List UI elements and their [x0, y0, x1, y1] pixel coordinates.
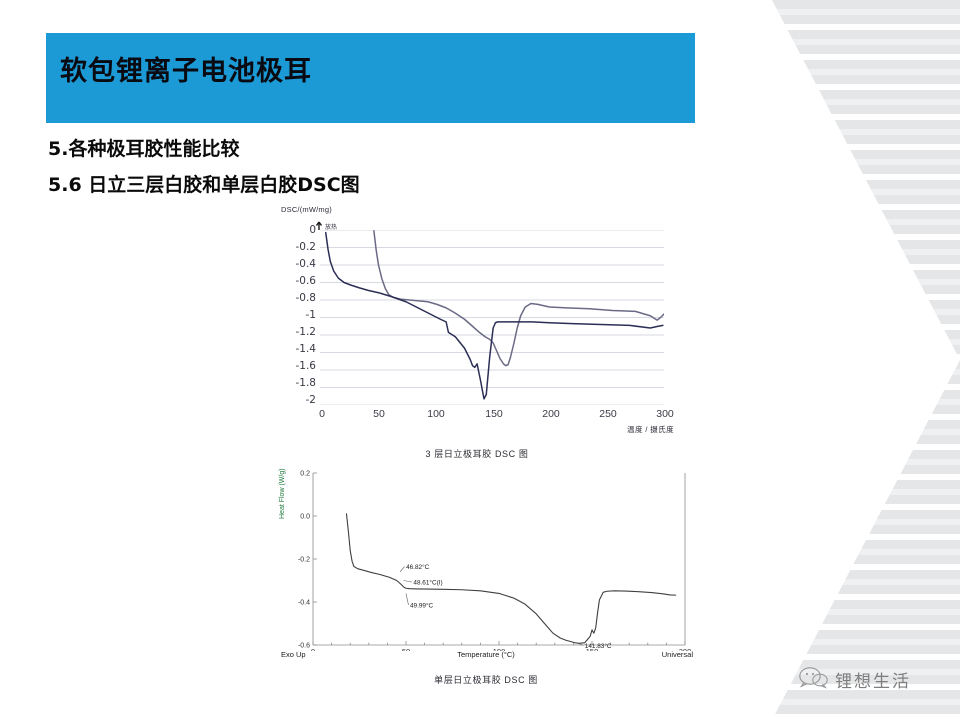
svg-text:0.2: 0.2 [300, 470, 310, 477]
chart1-ytick: -1.6 [296, 361, 317, 371]
chart1-ytick: -0.2 [296, 242, 317, 252]
chart1-x-ticks: 0 50 100 150 200 250 300 [304, 408, 676, 424]
svg-text:46.82°C: 46.82°C [406, 563, 430, 571]
svg-text:-0.4: -0.4 [298, 599, 310, 606]
svg-text:50: 50 [402, 647, 410, 651]
chart-three-layer-dsc: DSC/(mW/mg) 放热 0 -0.2 -0.4 -0.6 -0.8 -1 … [276, 203, 678, 443]
svg-text:141.83°C: 141.83°C [585, 642, 612, 650]
chart1-ytick: -1.2 [296, 327, 317, 337]
chart1-x-axis-label: 温度 / 摄氏度 [627, 424, 674, 435]
chart1-ytick: -1.4 [296, 344, 317, 354]
chart1-ytick: -0.6 [296, 276, 317, 286]
svg-text:49.99°C: 49.99°C [410, 601, 434, 609]
chart2-exo-up-label: Exo Up [281, 650, 306, 659]
chart1-ytick: -2 [306, 395, 316, 405]
chart2-caption: 单层日立极耳胶 DSC 图 [277, 673, 695, 686]
chart1-ytick: -0.4 [296, 259, 317, 269]
chart2-y-axis-label: Heat Flow (W/g) [279, 468, 286, 519]
chart1-y-ticks: 0 -0.2 -0.4 -0.6 -0.8 -1 -1.2 -1.4 -1.6 … [276, 225, 316, 411]
svg-text:-0.6: -0.6 [298, 642, 310, 649]
chart2-plot-area: 0.20.0-0.2-0.4-0.6 050100150200 46.82°C4… [287, 469, 691, 651]
chart-single-layer-dsc: Heat Flow (W/g) 0.20.0-0.2-0.4-0.6 05010… [277, 467, 695, 667]
svg-text:0: 0 [311, 647, 315, 651]
chart1-ytick: -1.8 [296, 378, 317, 388]
brand-logo-text: 锂想生活 [835, 667, 911, 692]
svg-text:0.0: 0.0 [300, 513, 310, 520]
chart1-ytick: -0.8 [296, 293, 317, 303]
chart1-xtick: 100 [427, 408, 445, 420]
chart1-xtick: 0 [319, 408, 325, 420]
bullet-line-1: 5.各种极耳胶性能比较 [48, 134, 239, 161]
chart1-caption: 3 层日立极耳胶 DSC 图 [276, 447, 678, 460]
chevron-stripe-pattern [692, 0, 960, 720]
wechat-bubble-icon [798, 665, 828, 694]
chart1-ytick: -1 [306, 310, 316, 320]
chart2-universal-label: Universal [662, 650, 693, 659]
slide-canvas: 软包锂离子电池极耳 5.各种极耳胶性能比较 5.6 日立三层白胶和单层白胶DSC… [0, 0, 960, 720]
brand-logo: 锂想生活 [798, 662, 948, 696]
chart1-xtick: 300 [656, 408, 674, 420]
bullet-line-2: 5.6 日立三层白胶和单层白胶DSC图 [48, 170, 360, 197]
svg-text:48.61°C(I): 48.61°C(I) [413, 579, 442, 587]
chart1-plot-area [320, 230, 664, 405]
chart1-xtick: 200 [542, 408, 560, 420]
chart1-ytick: 0 [309, 225, 316, 235]
chart1-xtick: 50 [373, 408, 385, 420]
chart1-y-axis-label: DSC/(mW/mg) [281, 205, 332, 214]
page-title: 软包锂离子电池极耳 [60, 55, 680, 89]
chart1-xtick: 150 [485, 408, 503, 420]
svg-text:-0.2: -0.2 [298, 556, 310, 563]
chart2-x-axis-label: Temperature (°C) [457, 650, 515, 659]
chart1-xtick: 250 [599, 408, 617, 420]
